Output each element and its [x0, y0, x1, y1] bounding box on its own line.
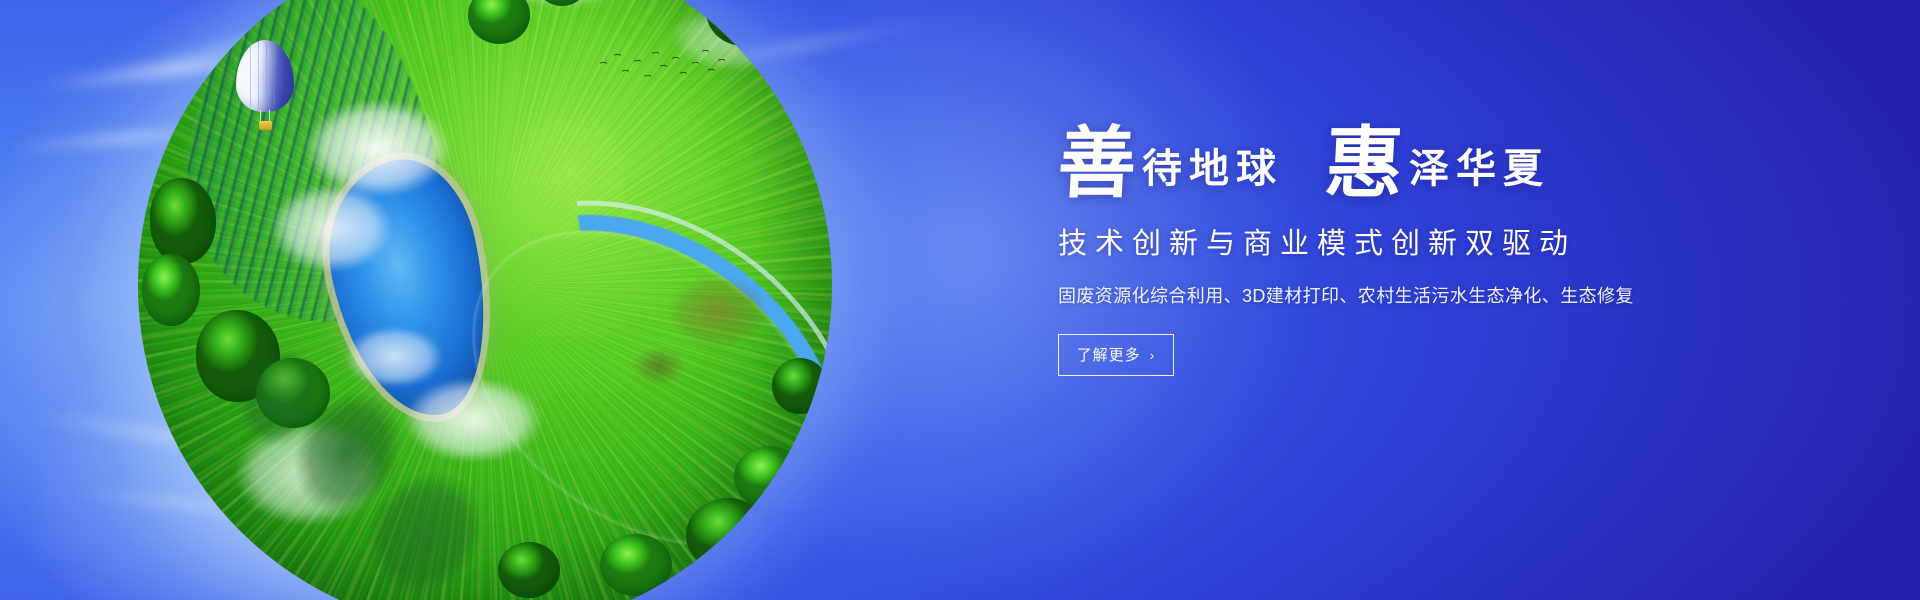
bird-icon: [600, 62, 607, 66]
bird-icon: [634, 60, 641, 64]
learn-more-label: 了解更多: [1077, 344, 1141, 365]
surface-cloud: [256, 174, 406, 282]
balloon-seam: [258, 42, 259, 108]
tree-canopy: [686, 498, 770, 572]
bird-icon: [718, 59, 725, 63]
bird-icon: [660, 65, 667, 69]
tree-canopy: [142, 254, 200, 326]
balloon-seam: [250, 42, 251, 108]
tree-canopy: [498, 542, 560, 598]
balloon-seam: [266, 42, 267, 108]
banner-subtitle: 技术创新与商业模式创新双驱动: [1058, 220, 1778, 262]
tree-canopy: [754, 24, 810, 76]
tree-canopy: [772, 358, 828, 414]
balloon-basket: [259, 121, 272, 130]
bare-earth-patch: [626, 342, 692, 390]
balloon-envelope: [236, 40, 294, 112]
bird-icon: [622, 70, 629, 74]
bird-icon: [652, 52, 659, 56]
bird-icon: [614, 54, 621, 58]
headline-char-shan: 善: [1056, 128, 1138, 200]
tree-canopy: [734, 446, 804, 508]
bare-earth-patch: [658, 268, 778, 354]
learn-more-button[interactable]: 了解更多 ›: [1058, 334, 1174, 376]
banner-description: 固废资源化综合利用、3D建材打印、农村生活污水生态净化、生态修复: [1058, 282, 1778, 308]
hero-banner: 善 待地球 惠 泽华夏 技术创新与商业模式创新双驱动 固废资源化综合利用、3D建…: [0, 0, 1920, 600]
headline-phrase-two: 泽华夏: [1409, 149, 1550, 200]
chevron-right-icon: ›: [1150, 348, 1156, 362]
headline-phrase-one: 待地球: [1142, 149, 1283, 200]
bird-flock: [596, 48, 726, 90]
bird-icon: [708, 69, 715, 73]
tree-canopy: [150, 178, 216, 264]
hot-air-balloon-icon: [236, 40, 294, 132]
page-title: 善 待地球 惠 泽华夏: [1058, 128, 1778, 200]
bird-icon: [692, 62, 699, 66]
bird-icon: [644, 75, 651, 79]
balloon-seam: [274, 42, 275, 108]
tree-canopy: [600, 534, 672, 596]
headline-char-hui: 惠: [1323, 128, 1405, 200]
bird-icon: [672, 57, 679, 61]
banner-copy: 善 待地球 惠 泽华夏 技术创新与商业模式创新双驱动 固废资源化综合利用、3D建…: [1058, 128, 1778, 376]
bird-icon: [680, 72, 687, 76]
bird-icon: [702, 50, 709, 54]
